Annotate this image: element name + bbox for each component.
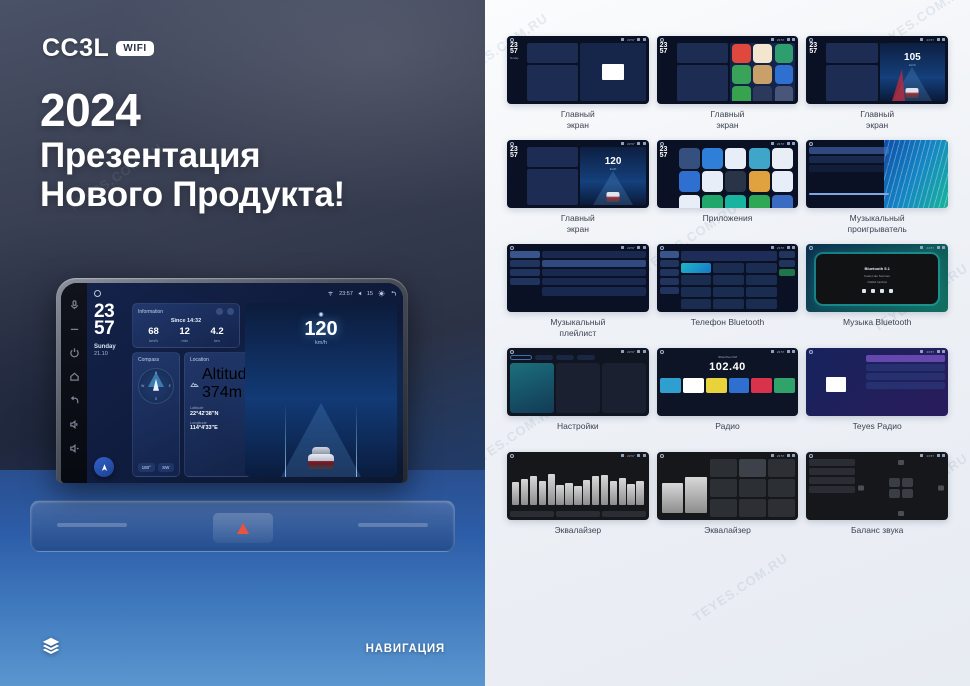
balance-pad[interactable] — [857, 459, 945, 517]
more-tile — [602, 363, 646, 413]
number-field[interactable] — [681, 251, 777, 261]
app-drawer[interactable] — [677, 147, 796, 205]
audio-visualizer — [884, 140, 948, 208]
clock-date: 21.10 — [94, 351, 127, 357]
home-screen-body: 23 57 Sunday 21.10 Information — [94, 303, 397, 477]
station-artwork — [826, 377, 846, 392]
screen-thumbnail-home-road-warning[interactable]: 23:57 2357 105km/h — [806, 36, 948, 104]
clock-widget[interactable]: 23 57 Sunday 21.10 — [94, 303, 127, 477]
gallery-item[interactable]: 23:57 2357 Главныйэкран — [657, 36, 799, 134]
thumbnail-caption: Эквалайзер — [704, 525, 751, 547]
console-trim — [30, 500, 455, 552]
back-icon[interactable] — [69, 395, 80, 406]
settings-tabs[interactable] — [510, 355, 646, 360]
trip-since: Since 14:32 — [138, 318, 234, 324]
screens-gallery-panel: TEYES.COM.RU TEYES.COM.RU TEYES.COM.RU T… — [485, 0, 970, 686]
screen-thumbnail-teyes-radio[interactable]: 23:57 — [806, 348, 948, 416]
hero-heading: 2024 Презентация Нового Продукта! — [40, 86, 345, 214]
vehicle-icon — [607, 192, 620, 202]
information-widget[interactable]: Information Since 14:32 68 km/h — [132, 303, 240, 348]
stat-value: 68 — [148, 327, 159, 337]
thumbnail-caption: Эквалайзер — [554, 525, 601, 547]
air-vent — [57, 523, 127, 527]
screen-thumbnail-settings[interactable]: 23:57 — [507, 348, 649, 416]
bt-version: Bluetooth 5.1 — [864, 266, 889, 271]
thumbnail-caption: Музыкальныйплейлист — [550, 317, 605, 339]
stat-speed: 68 km/h — [148, 327, 159, 343]
gallery-item[interactable]: 23:57 2357Sunday Главныйэкран — [507, 36, 649, 134]
thumbnail-caption: Музыкальныйпроигрыватель — [847, 213, 906, 235]
volume-level: 15 — [367, 291, 373, 297]
radio-frequency: 102.40 — [660, 361, 796, 373]
head-unit: 23:57 15 23 57 Su — [56, 278, 408, 483]
clock-minutes: 57 — [94, 320, 127, 337]
status-bar: 23:57 15 — [94, 288, 397, 299]
play-pause-icon — [871, 289, 875, 293]
station-list[interactable] — [866, 355, 945, 413]
driving-view-widget[interactable]: ◉ 120 km/h — [245, 303, 397, 477]
product-logo: CC3L WIFI — [42, 36, 154, 61]
eq-footer-tabs[interactable] — [510, 511, 646, 517]
screen-thumbnail-bluetooth-phone[interactable]: 23:57 — [657, 244, 799, 312]
watermark: TEYES.COM.RU — [690, 550, 790, 624]
screen-thumbnail-radio[interactable]: 23:57 Shenzhen FM 102.40 — [657, 348, 799, 416]
back-icon[interactable] — [390, 290, 397, 297]
lane-warning-overlay — [892, 69, 905, 101]
hero-panel: TEYES.COM.RU TEYES.COM.RU TEYES.COM.RU C… — [0, 0, 485, 686]
thumbnail-caption: Баланс звука — [851, 525, 903, 547]
phone-nav[interactable] — [660, 251, 679, 309]
balance-presets[interactable] — [809, 459, 855, 517]
wifi-tile — [510, 363, 554, 413]
fade-rear-button[interactable] — [898, 511, 904, 516]
balance-left-button[interactable] — [858, 486, 864, 491]
hazard-triangle-icon — [237, 523, 249, 534]
thumbnail-caption: Teyes Радио — [853, 421, 902, 443]
gallery-item[interactable]: 23:57 2357 Приложения — [657, 140, 799, 238]
mic-icon[interactable] — [69, 299, 80, 310]
power-icon[interactable] — [69, 347, 80, 358]
gallery-item[interactable]: 23:57 Музыкальныйпроигрыватель — [806, 140, 948, 238]
mute-icon[interactable] — [69, 323, 80, 334]
compass-widget[interactable]: Compass N S W E — [132, 352, 180, 477]
location-title: Location — [190, 357, 209, 363]
wifi-badge: WIFI — [116, 41, 154, 56]
screen-thumbnail-playlist[interactable]: 23:57 — [507, 244, 649, 312]
air-vent — [358, 523, 428, 527]
thumbnail-caption: Главныйэкран — [711, 109, 745, 131]
now-playing-list[interactable] — [809, 147, 888, 205]
gallery-item[interactable]: 23:57 Teyes Радио — [806, 348, 948, 446]
volume-down-icon[interactable] — [69, 443, 80, 454]
gallery-item[interactable]: 23:57 Bluetooth 5.1 Feels Like Summer Ch… — [806, 244, 948, 342]
prev-icon — [862, 289, 866, 293]
compass-degrees: 180° — [138, 463, 155, 472]
stat-unit: min — [179, 338, 190, 343]
screens-grid: 23:57 2357Sunday Главныйэкран 23:57 2357 — [507, 36, 948, 550]
stat-value: 4.2 — [210, 327, 223, 337]
screen-thumbnail-home-apps[interactable]: 23:57 2357 — [657, 36, 799, 104]
screen-thumbnail-equalizer-bars[interactable]: 23:57 — [507, 452, 649, 520]
preset-pads[interactable] — [710, 459, 795, 517]
expand-icon[interactable] — [227, 308, 234, 315]
compass-s: S — [155, 397, 157, 401]
speed-icon: ◉ — [318, 311, 323, 318]
dialpad[interactable] — [681, 263, 777, 309]
hero-footer: НАВИГАЦИЯ — [0, 635, 485, 662]
equalizer-sliders[interactable] — [510, 459, 646, 509]
heading-year: 2024 — [40, 86, 345, 136]
navigation-label: НАВИГАЦИЯ — [366, 643, 445, 655]
stat-value: 12 — [179, 327, 190, 337]
level-sliders[interactable] — [660, 459, 709, 517]
layers-icon[interactable] — [40, 635, 62, 662]
lane-line — [285, 403, 286, 477]
track-list[interactable] — [542, 251, 646, 309]
gear-icon[interactable] — [378, 290, 385, 297]
gallery-item[interactable]: 23:57 Настройки — [507, 348, 649, 446]
compass-needle-icon — [153, 379, 159, 391]
media-art — [580, 43, 645, 101]
traffic-tile — [556, 363, 600, 413]
navigation-button[interactable] — [94, 457, 114, 477]
volume-up-icon[interactable] — [69, 419, 80, 430]
widgets-column: Information Since 14:32 68 km/h — [132, 303, 240, 477]
gallery-item[interactable]: 23:57 2357 120km/h Главныйэкран — [507, 140, 649, 238]
vehicle-icon — [906, 88, 919, 98]
mountain-icon — [190, 380, 199, 389]
bt-track: Feels Like Summer — [864, 274, 890, 278]
gallery-item[interactable]: 23:57 Shenzhen FM 102.40 Радио — [657, 348, 799, 446]
stat-unit: km — [210, 338, 223, 343]
lane-line — [356, 403, 357, 477]
screen-thumbnail-equalizer-presets[interactable]: 23:57 — [657, 452, 799, 520]
wifi-icon[interactable] — [327, 290, 334, 297]
side-button-rail[interactable] — [61, 283, 87, 483]
gallery-item[interactable]: 23:57 Телефон Bluetooth — [657, 244, 799, 342]
screen-thumbnail-apps[interactable]: 23:57 2357 — [657, 140, 799, 208]
information-header: Information — [138, 308, 234, 315]
radio-band: Shenzhen FM — [660, 355, 796, 359]
home-icon[interactable] — [69, 371, 80, 382]
playlist-categories[interactable] — [510, 251, 540, 309]
vehicle-3d-icon — [308, 447, 334, 469]
trip-stats: 68 km/h 12 min 4.2 km — [138, 327, 234, 343]
speed-value: 120 — [304, 319, 337, 339]
gallery-item[interactable]: 23:57 Баланс звука — [806, 452, 948, 550]
clock-weekday: Sunday — [94, 344, 127, 350]
app-shortcuts[interactable] — [730, 43, 795, 101]
navigation-arrow-icon — [100, 463, 109, 472]
heading-line-2: Нового Продукта! — [40, 175, 345, 214]
gallery-item[interactable]: 23:57 Эквалайзер — [507, 452, 649, 550]
compass-n: N — [155, 371, 158, 375]
screen-thumbnail-bluetooth-music[interactable]: 23:57 Bluetooth 5.1 Feels Like Summer Ch… — [806, 244, 948, 312]
compass-title: Compass — [138, 357, 159, 363]
stat-unit: km/h — [148, 338, 159, 343]
hazard-button[interactable] — [213, 513, 273, 543]
gallery-item[interactable]: 23:57 Музыкальныйплейлист — [507, 244, 649, 342]
bt-music-card: Bluetooth 5.1 Feels Like Summer Childish… — [816, 254, 938, 304]
radio-presets[interactable] — [660, 378, 796, 393]
call-actions[interactable] — [779, 251, 795, 309]
stat-duration: 12 min — [179, 327, 190, 343]
thumbnail-caption: Телефон Bluetooth — [691, 317, 765, 339]
next-icon — [889, 289, 893, 293]
balance-right-button[interactable] — [938, 486, 944, 491]
fade-front-button[interactable] — [898, 460, 904, 465]
volume-indicator[interactable]: 15 — [358, 290, 373, 297]
information-title: Information — [138, 309, 163, 315]
status-time: 23:57 — [339, 291, 353, 297]
settings-tiles[interactable] — [510, 363, 646, 413]
refresh-icon[interactable] — [216, 308, 223, 315]
stat-distance: 4.2 km — [210, 327, 223, 343]
compass-direction: SW — [158, 463, 175, 472]
speed-readout: 105km/h — [904, 52, 921, 67]
gallery-item[interactable]: 23:57 Эквалайзер — [657, 452, 799, 550]
transport-controls[interactable] — [862, 289, 893, 293]
screen-thumbnail-music-player[interactable]: 23:57 — [806, 140, 948, 208]
thumbnail-caption: Настройки — [557, 421, 599, 443]
bt-artist: Childish Gambino — [867, 281, 887, 284]
thumbnail-caption: Радио — [715, 421, 740, 443]
thumbnail-caption: Музыка Bluetooth — [843, 317, 911, 339]
speed-unit: km/h — [315, 340, 327, 346]
screen-thumbnail-home-media[interactable]: 23:57 2357Sunday — [507, 36, 649, 104]
head-unit-display[interactable]: 23:57 15 23 57 Su — [87, 283, 403, 483]
screen-thumbnail-sound-balance[interactable]: 23:57 — [806, 452, 948, 520]
compass-w: W — [141, 384, 144, 388]
stop-icon — [880, 289, 884, 293]
compass-e: E — [169, 384, 171, 388]
thumbnail-caption: Главныйэкран — [561, 109, 595, 131]
compass-rose: N S W E — [138, 368, 174, 404]
thumbnail-caption: Главныйэкран — [561, 213, 595, 235]
heading-line-1: Презентация — [40, 136, 345, 175]
thumbnail-caption: Главныйэкран — [860, 109, 894, 131]
screen-thumbnail-home-road[interactable]: 23:57 2357 120km/h — [507, 140, 649, 208]
home-indicator-icon[interactable] — [94, 290, 101, 297]
gallery-item[interactable]: 23:57 2357 105km/h Главныйэкран — [806, 36, 948, 134]
speed-readout: 120km/h — [605, 156, 622, 171]
thumbnail-caption: Приложения — [703, 213, 753, 235]
logo-wordmark: CC3L — [42, 36, 109, 61]
head-unit-screen-area: 23:57 15 23 57 Su — [61, 283, 403, 483]
